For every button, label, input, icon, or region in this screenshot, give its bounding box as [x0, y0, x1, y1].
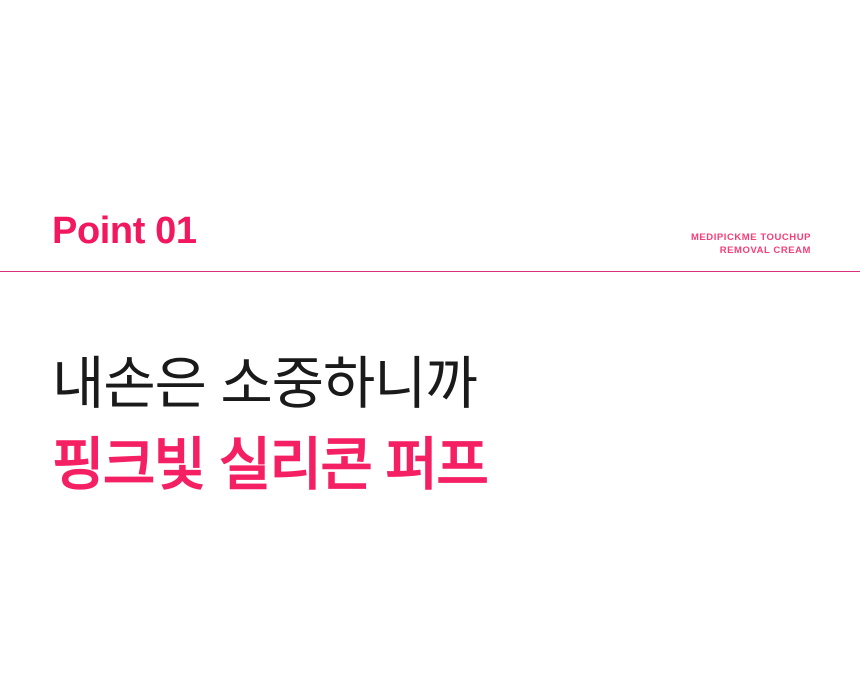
slide-canvas: Point 01 MEDIPICKME TOUCHUP REMOVAL CREA…	[0, 0, 860, 687]
headline-line-2: 핑크빛 실리콘 퍼프	[52, 424, 812, 506]
headline-block: 내손은 소중하니까 핑크빛 실리콘 퍼프	[52, 344, 812, 506]
point-label: Point 01	[52, 209, 197, 253]
brand-caption-line-2: REMOVAL CREAM	[511, 244, 811, 257]
brand-caption: MEDIPICKME TOUCHUP REMOVAL CREAM	[511, 231, 811, 257]
slide-header: Point 01 MEDIPICKME TOUCHUP REMOVAL CREA…	[0, 0, 860, 274]
header-divider-line	[0, 271, 860, 272]
headline-line-1: 내손은 소중하니까	[52, 344, 812, 424]
brand-caption-line-1: MEDIPICKME TOUCHUP	[511, 231, 811, 244]
